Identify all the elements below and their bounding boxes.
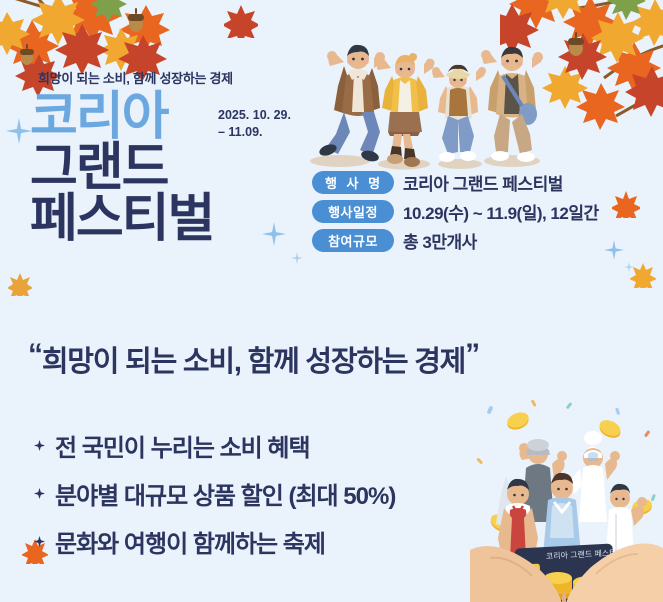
sparkle-title-right [262,222,286,246]
title-line-3: 페스티벌 [30,194,213,245]
quote-open-mark: “ [28,338,42,371]
falling-leaf-center-top [224,4,258,38]
main-title: 코리아 그랜드 페스티벌 [30,92,213,245]
info-label-scale: 참여규모 [312,229,394,252]
sparkle-info-right [604,240,624,260]
title-line-1: 코리아 [30,92,213,143]
falling-leaf-mid-right [612,190,640,218]
list-item: 문화와 여행이 함께하는 축제 [32,524,395,559]
benefit-text-2: 분야별 대규모 상품 할인 (최대 50%) [55,476,395,511]
info-row-name: 행 사 명 코리아 그랜드 페스티벌 [312,170,599,195]
tagline: 희망이 되는 소비, 함께 성장하는 경제 [38,68,233,87]
diamond-bullet-icon [32,486,47,501]
benefit-text-3: 문화와 여행이 함께하는 축제 [55,524,325,559]
info-value-schedule: 10.29(수) ~ 11.9(일), 12일간 [403,199,599,224]
acorn-right [566,32,586,57]
sparkle-title-right-small [291,252,303,264]
quote-text: 희망이 되는 소비, 함께 성장하는 경제 [42,346,465,378]
event-info-list: 행 사 명 코리아 그랜드 페스티벌 행사일정 10.29(수) ~ 11.9(… [312,170,599,257]
benefit-text-1: 전 국민이 누리는 소비 혜택 [55,428,310,463]
falling-leaf-left-mid [8,272,32,296]
list-item: 전 국민이 누리는 소비 혜택 [32,428,395,463]
quote-slogan: “희망이 되는 소비, 함께 성장하는 경제” [28,338,648,380]
jumping-people-illustration [300,28,550,173]
acorn-top-left [18,44,36,66]
diamond-bullet-icon [32,534,47,549]
info-value-scale: 총 3만개사 [403,228,477,253]
benefit-list: 전 국민이 누리는 소비 혜택 분야별 대규모 상품 할인 (최대 50%) 문… [32,428,395,572]
acorn-center-top [126,8,146,33]
info-label-schedule: 행사일정 [312,200,394,223]
diamond-bullet-icon [32,438,47,453]
list-item: 분야별 대규모 상품 할인 (최대 50%) [32,476,395,511]
sparkle-info-right-small [624,262,634,272]
festival-poster: 희망이 되는 소비, 함께 성장하는 경제 코리아 그랜드 페스티벌 2025.… [0,0,663,602]
info-value-name: 코리아 그랜드 페스티벌 [403,170,563,195]
sparkle-title-left [6,118,32,144]
info-row-scale: 참여규모 총 3만개사 [312,228,599,253]
info-label-name: 행 사 명 [312,171,394,194]
quote-close-mark: ” [465,338,479,371]
info-row-schedule: 행사일정 10.29(수) ~ 11.9(일), 12일간 [312,199,599,224]
hands-card-coins-illustration: 코리아 그랜드 페스티벌 [470,398,663,602]
date-range: 2025. 10. 29. – 11.09. [218,107,291,141]
title-line-2: 그랜드 [30,143,213,194]
